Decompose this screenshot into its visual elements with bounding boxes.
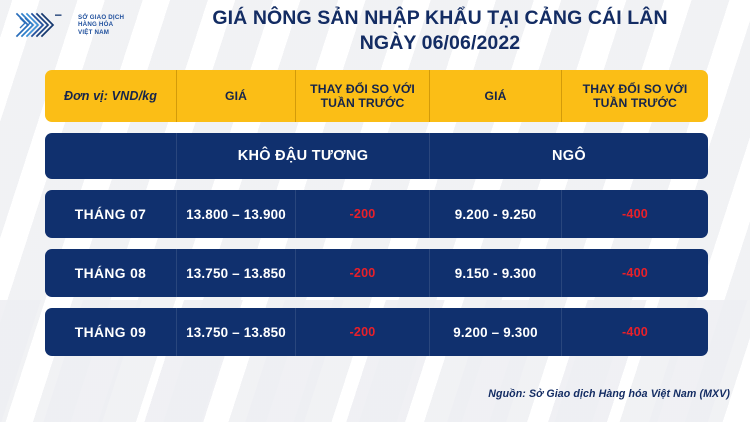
category-spacer-cell	[45, 133, 176, 179]
cell-corn-price: 9.200 – 9.300	[429, 308, 561, 356]
column-header-change-soymeal-line1: THAY ĐỔI SO VỚI	[310, 82, 415, 96]
row-month-label: THÁNG 08	[45, 249, 176, 297]
price-table: Đơn vị: VND/kg GIÁ THAY ĐỔI SO VỚI TUẦN …	[45, 70, 708, 356]
cell-corn-price: 9.150 - 9.300	[429, 249, 561, 297]
column-header-change-corn: THAY ĐỔI SO VỚI TUẦN TRƯỚC	[561, 70, 708, 122]
cell-corn-price: 9.200 - 9.250	[429, 190, 561, 238]
column-header-change-soymeal: THAY ĐỔI SO VỚI TUẦN TRƯỚC	[295, 70, 429, 122]
table-header-row: Đơn vị: VND/kg GIÁ THAY ĐỔI SO VỚI TUẦN …	[45, 70, 708, 122]
table-row: THÁNG 08 13.750 – 13.850 -200 9.150 - 9.…	[45, 249, 708, 297]
cell-corn-change: -400	[561, 308, 708, 356]
cell-soymeal-change: -200	[295, 308, 429, 356]
column-header-change-soymeal-line2: TUẦN TRƯỚC	[321, 96, 405, 110]
table-row: THÁNG 07 13.800 – 13.900 -200 9.200 - 9.…	[45, 190, 708, 238]
cell-corn-change: -400	[561, 190, 708, 238]
source-note: Nguồn: Sở Giao dịch Hàng hóa Việt Nam (M…	[488, 388, 730, 400]
table-row: THÁNG 09 13.750 – 13.850 -200 9.200 – 9.…	[45, 308, 708, 356]
brand-line-3: VIỆT NAM	[78, 29, 109, 36]
page-title-line-2: NGÀY 06/06/2022	[140, 31, 740, 56]
brand-line-1: SỞ GIAO DỊCH	[78, 14, 124, 21]
cell-corn-change: -400	[561, 249, 708, 297]
column-header-unit: Đơn vị: VND/kg	[45, 70, 176, 122]
column-header-price-corn: GIÁ	[429, 70, 561, 122]
brand-line-2: HÀNG HÓA	[78, 21, 113, 28]
mxv-chevron-logo-icon	[14, 10, 72, 40]
page-title: GIÁ NÔNG SẢN NHẬP KHẨU TẠI CẢNG CÁI LÂN …	[140, 6, 740, 56]
row-month-label: THÁNG 09	[45, 308, 176, 356]
table-category-row: KHÔ ĐẬU TƯƠNG NGÔ	[45, 133, 708, 179]
cell-soymeal-change: -200	[295, 190, 429, 238]
cell-soymeal-change: -200	[295, 249, 429, 297]
page-header: SỞ GIAO DỊCH HÀNG HÓA VIỆT NAM GIÁ NÔNG …	[0, 0, 750, 66]
cell-soymeal-price: 13.750 – 13.850	[176, 249, 295, 297]
cell-soymeal-price: 13.800 – 13.900	[176, 190, 295, 238]
brand-logo-text: SỞ GIAO DỊCH HÀNG HÓA VIỆT NAM	[78, 14, 124, 37]
column-header-change-corn-line1: THAY ĐỔI SO VỚI	[583, 82, 688, 96]
column-header-price-soymeal: GIÁ	[176, 70, 295, 122]
infographic-page: SỞ GIAO DỊCH HÀNG HÓA VIỆT NAM GIÁ NÔNG …	[0, 0, 750, 422]
column-header-change-corn-line2: TUẦN TRƯỚC	[593, 96, 677, 110]
brand-logo: SỞ GIAO DỊCH HÀNG HÓA VIỆT NAM	[14, 10, 124, 40]
row-month-label: THÁNG 07	[45, 190, 176, 238]
cell-soymeal-price: 13.750 – 13.850	[176, 308, 295, 356]
category-soymeal: KHÔ ĐẬU TƯƠNG	[176, 133, 429, 179]
category-corn: NGÔ	[429, 133, 708, 179]
page-title-line-1: GIÁ NÔNG SẢN NHẬP KHẨU TẠI CẢNG CÁI LÂN	[212, 7, 667, 29]
